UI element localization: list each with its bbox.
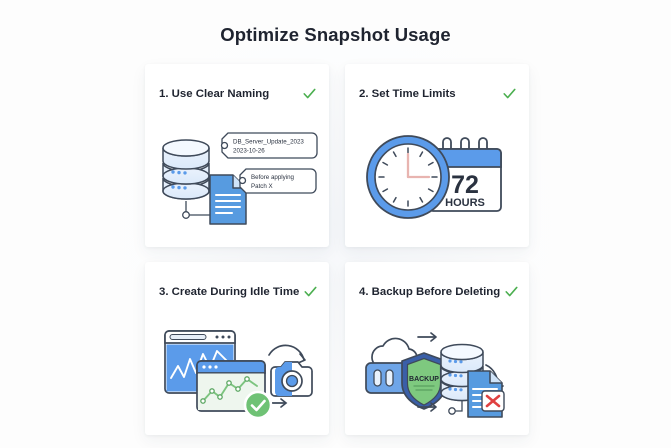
illustration-backup-shield-database: BACKUP <box>345 310 529 429</box>
card-create-during-idle-time[interactable]: 3. Create During Idle Time <box>145 262 329 435</box>
card-title: 3. Create During Idle Time <box>159 286 299 298</box>
calendar-unit: HOURS <box>445 197 485 209</box>
callout-2-line-2: Patch X <box>251 183 273 190</box>
card-header: 2. Set Time Limits <box>359 86 517 101</box>
card-backup-before-deleting[interactable]: 4. Backup Before Deleting <box>345 262 529 435</box>
card-header: 3. Create During Idle Time <box>159 284 317 299</box>
card-header: 1. Use Clear Naming <box>159 86 317 101</box>
success-badge-icon <box>245 392 271 418</box>
clock-icon <box>367 136 449 218</box>
backup-shield-icon: BACKUP <box>402 353 446 409</box>
card-set-time-limits[interactable]: 2. Set Time Limits <box>345 64 529 247</box>
calendar-value: 72 <box>451 171 479 199</box>
callout-bubble-2: Before applying Patch X <box>240 169 317 193</box>
illustration-database-naming: DB_Server_Update_2023 2023-10-26 Before … <box>145 112 329 241</box>
page-title: Optimize Snapshot Usage <box>0 24 671 46</box>
card-title: 4. Backup Before Deleting <box>359 286 500 298</box>
delete-document-icon <box>468 371 504 417</box>
card-title: 1. Use Clear Naming <box>159 88 269 100</box>
illustration-monitoring-camera <box>145 310 329 429</box>
camera-icon <box>271 362 312 396</box>
check-icon <box>303 284 318 299</box>
callout-bubble-1: DB_Server_Update_2023 2023-10-26 <box>222 133 318 158</box>
page-root: Optimize Snapshot Usage 1. Use Clear Nam… <box>0 0 671 448</box>
check-icon <box>504 284 519 299</box>
illustration-clock-calendar: 72 HOURS <box>345 112 529 241</box>
check-icon <box>302 86 317 101</box>
card-header: 4. Backup Before Deleting <box>359 284 517 299</box>
callout-1-line-2: 2023-10-26 <box>233 147 265 154</box>
callout-2-line-1: Before applying <box>251 174 295 181</box>
card-title: 2. Set Time Limits <box>359 88 456 100</box>
best-practices-grid: 1. Use Clear Naming <box>145 64 529 435</box>
callout-1-line-1: DB_Server_Update_2023 <box>233 138 304 145</box>
card-use-clear-naming[interactable]: 1. Use Clear Naming <box>145 64 329 247</box>
shield-label: BACKUP <box>409 376 439 383</box>
check-icon <box>502 86 517 101</box>
